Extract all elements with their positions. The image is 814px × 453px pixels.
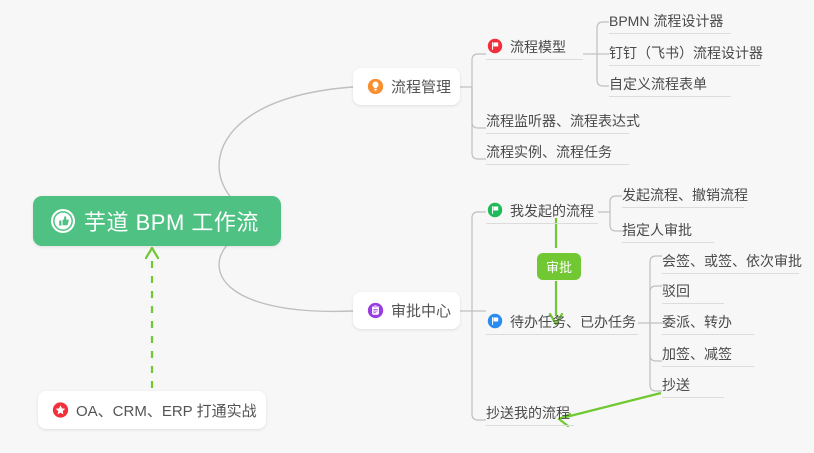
node-start-cancel-process[interactable]: 发起流程、撤销流程 — [622, 180, 744, 208]
node-assignee-approval[interactable]: 指定人审批 — [622, 215, 714, 243]
node-countersign-or-sequential[interactable]: 会签、或签、依次审批 — [662, 246, 799, 274]
node-label: BPMN 流程设计器 — [609, 14, 723, 28]
node-label: 流程实例、流程任务 — [486, 145, 612, 159]
node-approval-center[interactable]: 审批中心 — [353, 292, 460, 329]
node-carbon-copy[interactable]: 抄送 — [662, 370, 724, 398]
node-label: 会签、或签、依次审批 — [662, 254, 802, 268]
node-label: 待办任务、已办任务 — [510, 315, 636, 329]
node-label: 审批中心 — [391, 300, 451, 321]
node-label: 加签、减签 — [662, 347, 732, 361]
node-process-management[interactable]: 流程管理 — [353, 68, 460, 105]
node-label: 抄送我的流程 — [486, 406, 570, 420]
node-dingtalk-feishu-designer[interactable]: 钉钉（飞书）流程设计器 — [609, 38, 760, 66]
node-custom-process-form[interactable]: 自定义流程表单 — [609, 69, 731, 97]
root-label: 芋道 BPM 工作流 — [84, 205, 259, 237]
node-process-instance-task[interactable]: 流程实例、流程任务 — [486, 137, 629, 165]
flag-green-icon — [486, 201, 503, 218]
node-cc-to-me-process[interactable]: 抄送我的流程 — [486, 398, 574, 426]
flag-red-icon — [486, 37, 503, 54]
node-my-initiated-process[interactable]: 我发起的流程 — [486, 196, 598, 224]
mindmap-canvas: 芋道 BPM 工作流 流程管理 流程模型 流程监听器、流程表达式 流程实例、流 — [0, 0, 814, 453]
root-node[interactable]: 芋道 BPM 工作流 — [33, 196, 281, 246]
clipboard-icon — [367, 302, 384, 319]
node-label: 抄送 — [662, 378, 690, 392]
chip-label: 审批 — [546, 257, 572, 276]
node-label: 自定义流程表单 — [609, 77, 707, 91]
node-todo-done-tasks[interactable]: 待办任务、已办任务 — [486, 307, 638, 335]
node-label: 流程管理 — [391, 76, 451, 97]
node-integration-practice[interactable]: OA、CRM、ERP 打通实战 — [38, 391, 266, 429]
approval-annotation-chip: 审批 — [537, 253, 581, 280]
node-bpmn-designer[interactable]: BPMN 流程设计器 — [609, 6, 731, 34]
node-process-listener-expression[interactable]: 流程监听器、流程表达式 — [486, 106, 629, 134]
node-label: 流程模型 — [510, 40, 566, 54]
thumbs-up-icon — [51, 209, 75, 233]
node-add-remove-sign[interactable]: 加签、减签 — [662, 339, 754, 367]
node-reject[interactable]: 驳回 — [662, 276, 724, 304]
node-label: 钉钉（飞书）流程设计器 — [609, 46, 763, 60]
node-label: 我发起的流程 — [510, 204, 594, 218]
node-label: 委派、转办 — [662, 315, 732, 329]
flag-blue-icon — [486, 312, 503, 329]
node-label: 发起流程、撤销流程 — [622, 188, 748, 202]
node-process-model[interactable]: 流程模型 — [486, 32, 583, 60]
node-label: 指定人审批 — [622, 223, 692, 237]
node-delegate-transfer[interactable]: 委派、转办 — [662, 307, 754, 335]
lightbulb-icon — [367, 78, 384, 95]
star-icon — [52, 402, 69, 419]
node-label: 驳回 — [662, 284, 690, 298]
node-label: OA、CRM、ERP 打通实战 — [76, 400, 257, 421]
node-label: 流程监听器、流程表达式 — [486, 114, 640, 128]
